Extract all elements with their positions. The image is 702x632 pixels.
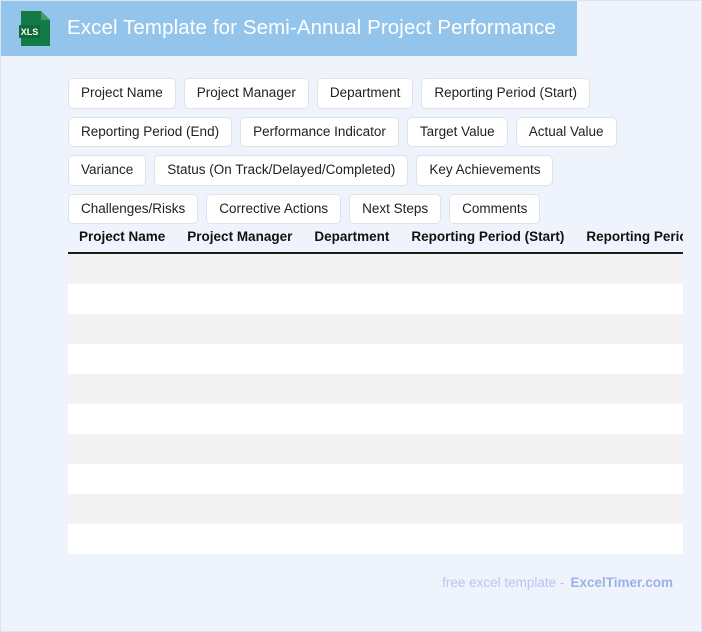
chip-corrective-actions[interactable]: Corrective Actions: [206, 194, 341, 225]
chip-reporting-period-end[interactable]: Reporting Period (End): [68, 117, 232, 148]
table-cell[interactable]: [400, 404, 575, 434]
table-cell[interactable]: [575, 344, 683, 374]
page-root: XLS Excel Template for Semi-Annual Proje…: [0, 0, 702, 632]
table-body: [68, 253, 683, 554]
table-cell[interactable]: [400, 314, 575, 344]
chip-department[interactable]: Department: [317, 78, 414, 109]
table-cell[interactable]: [575, 284, 683, 314]
table-cell[interactable]: [303, 434, 400, 464]
table-cell[interactable]: [68, 344, 176, 374]
svg-text:XLS: XLS: [21, 27, 39, 37]
table-cell[interactable]: [68, 404, 176, 434]
table-cell[interactable]: [575, 494, 683, 524]
chip-variance[interactable]: Variance: [68, 155, 146, 186]
chip-row: Challenges/Risks Corrective Actions Next…: [68, 194, 684, 225]
table-head: Project Name Project Manager Department …: [68, 229, 683, 253]
table-cell[interactable]: [176, 253, 303, 284]
table-cell[interactable]: [68, 374, 176, 404]
table-cell[interactable]: [575, 434, 683, 464]
table-cell[interactable]: [400, 374, 575, 404]
table-cell[interactable]: [176, 344, 303, 374]
table-cell[interactable]: [303, 494, 400, 524]
table-cell[interactable]: [575, 314, 683, 344]
table-cell[interactable]: [575, 524, 683, 554]
column-header-project-name[interactable]: Project Name: [68, 229, 176, 253]
column-header-project-manager[interactable]: Project Manager: [176, 229, 303, 253]
table-cell[interactable]: [303, 464, 400, 494]
chip-next-steps[interactable]: Next Steps: [349, 194, 441, 225]
table-cell[interactable]: [303, 253, 400, 284]
table-cell[interactable]: [303, 284, 400, 314]
table-row[interactable]: [68, 434, 683, 464]
table-cell[interactable]: [176, 494, 303, 524]
column-header-reporting-period-start[interactable]: Reporting Period (Start): [400, 229, 575, 253]
footer-brand-link[interactable]: ExcelTimer.com: [570, 575, 673, 590]
table-row[interactable]: [68, 524, 683, 554]
chip-status[interactable]: Status (On Track/Delayed/Completed): [154, 155, 408, 186]
table-cell[interactable]: [176, 464, 303, 494]
table-cell[interactable]: [303, 374, 400, 404]
table-cell[interactable]: [575, 464, 683, 494]
table-cell[interactable]: [68, 464, 176, 494]
chip-performance-indicator[interactable]: Performance Indicator: [240, 117, 399, 148]
table-cell[interactable]: [400, 494, 575, 524]
table-cell[interactable]: [303, 524, 400, 554]
chip-row: Reporting Period (End) Performance Indic…: [68, 117, 684, 148]
table-cell[interactable]: [400, 524, 575, 554]
chip-reporting-period-start[interactable]: Reporting Period (Start): [421, 78, 590, 109]
page-title: Excel Template for Semi-Annual Project P…: [67, 18, 556, 39]
chip-row: Project Name Project Manager Department …: [68, 78, 684, 109]
table-cell[interactable]: [68, 524, 176, 554]
table-row[interactable]: [68, 494, 683, 524]
table-row[interactable]: [68, 404, 683, 434]
field-chip-list: Project Name Project Manager Department …: [68, 78, 684, 232]
xls-file-icon: XLS: [19, 10, 53, 48]
chip-key-achievements[interactable]: Key Achievements: [416, 155, 553, 186]
table-cell[interactable]: [68, 494, 176, 524]
table-header-row: Project Name Project Manager Department …: [68, 229, 683, 253]
chip-project-manager[interactable]: Project Manager: [184, 78, 309, 109]
table-cell[interactable]: [303, 344, 400, 374]
table-cell[interactable]: [400, 344, 575, 374]
table-cell[interactable]: [68, 253, 176, 284]
table-cell[interactable]: [176, 314, 303, 344]
table-row[interactable]: [68, 374, 683, 404]
table-cell[interactable]: [400, 464, 575, 494]
column-header-department[interactable]: Department: [303, 229, 400, 253]
table-cell[interactable]: [176, 284, 303, 314]
chip-project-name[interactable]: Project Name: [68, 78, 176, 109]
table-cell[interactable]: [176, 434, 303, 464]
chip-row: Variance Status (On Track/Delayed/Comple…: [68, 155, 684, 186]
table-cell[interactable]: [68, 284, 176, 314]
table-row[interactable]: [68, 314, 683, 344]
table-cell[interactable]: [575, 374, 683, 404]
table-row[interactable]: [68, 284, 683, 314]
table-cell[interactable]: [68, 314, 176, 344]
header-banner: XLS Excel Template for Semi-Annual Proje…: [1, 1, 577, 56]
table-cell[interactable]: [303, 314, 400, 344]
table-cell[interactable]: [176, 374, 303, 404]
chip-target-value[interactable]: Target Value: [407, 117, 508, 148]
chip-actual-value[interactable]: Actual Value: [516, 117, 617, 148]
chip-challenges-risks[interactable]: Challenges/Risks: [68, 194, 198, 225]
column-header-reporting-period-end[interactable]: Reporting Period (End): [575, 229, 683, 253]
footer-free-text: free excel template -: [442, 575, 564, 590]
table-cell[interactable]: [400, 284, 575, 314]
chip-comments[interactable]: Comments: [449, 194, 540, 225]
table-cell[interactable]: [400, 434, 575, 464]
table-row[interactable]: [68, 464, 683, 494]
table-row[interactable]: [68, 344, 683, 374]
table-cell[interactable]: [400, 253, 575, 284]
data-table-container: Project Name Project Manager Department …: [68, 229, 683, 559]
table-row[interactable]: [68, 253, 683, 284]
table-cell[interactable]: [176, 404, 303, 434]
table-cell[interactable]: [575, 253, 683, 284]
table-cell[interactable]: [68, 434, 176, 464]
data-table: Project Name Project Manager Department …: [68, 229, 683, 554]
footer-credit: free excel template -ExcelTimer.com: [442, 576, 673, 590]
table-cell[interactable]: [575, 404, 683, 434]
table-cell[interactable]: [176, 524, 303, 554]
table-cell[interactable]: [303, 404, 400, 434]
